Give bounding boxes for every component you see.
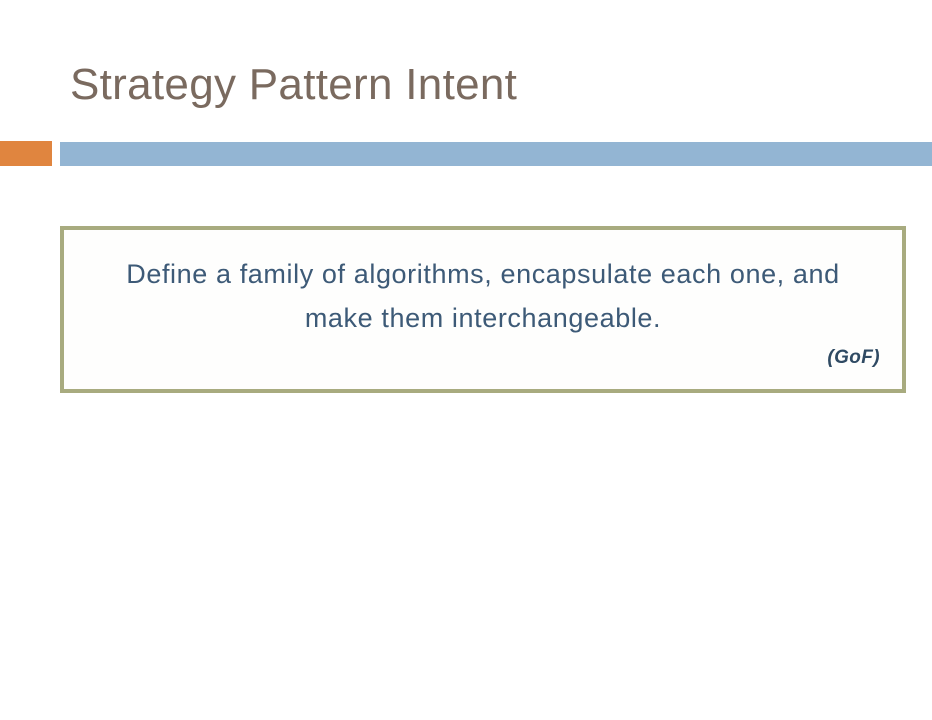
quote-attribution: (GoF)	[827, 347, 880, 369]
quote-box: Define a family of algorithms, encapsula…	[60, 226, 906, 393]
accent-bar-blue	[60, 142, 932, 166]
accent-bar-orange	[0, 141, 52, 166]
quote-text: Define a family of algorithms, encapsula…	[90, 252, 876, 340]
presentation-slide: Strategy Pattern Intent Define a family …	[0, 0, 932, 720]
page-title: Strategy Pattern Intent	[70, 57, 517, 113]
